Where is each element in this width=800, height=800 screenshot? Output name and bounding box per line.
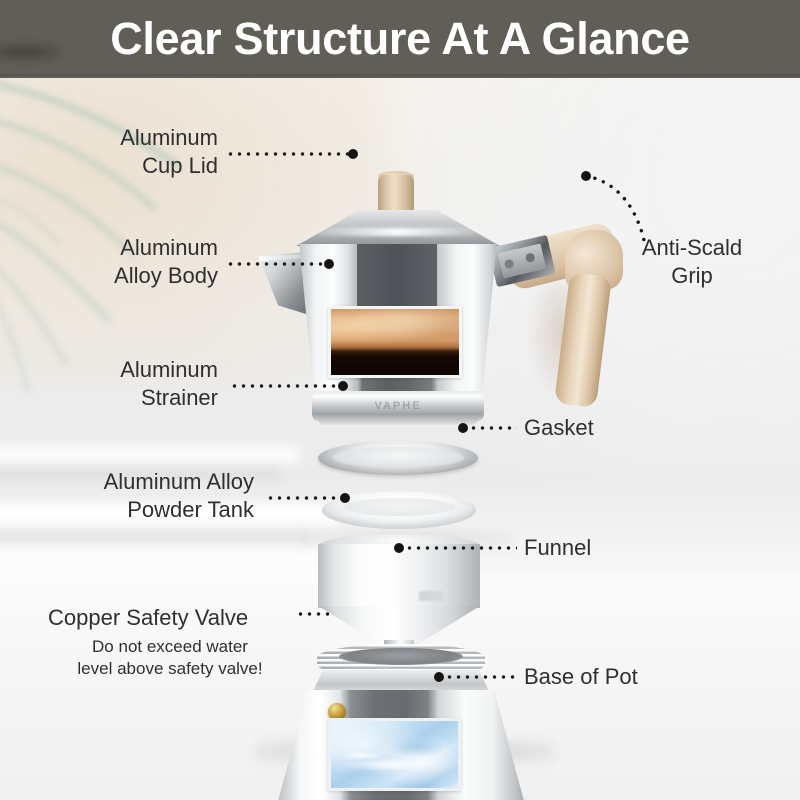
callout-label-aluminum-alloy-body: Aluminum Alloy Body [28, 234, 218, 290]
water-swirl-texture [337, 729, 452, 780]
water-inset-photo [328, 718, 461, 791]
crema-inset-photo [328, 306, 462, 378]
leader-line-aluminum-alloy-powder-tank [266, 496, 342, 500]
header-bar: Clear Structure At A Glance [0, 0, 800, 78]
leader-line-aluminum-alloy-body [226, 262, 326, 266]
collar-base-ring [318, 417, 478, 425]
leader-dot-aluminum-alloy-body [324, 259, 334, 269]
strainer-inner-face [332, 447, 464, 468]
callout-label-funnel: Funnel [524, 534, 744, 562]
leader-dot-aluminum-strainer [338, 381, 348, 391]
callout-label-copper-safety-valve: Copper Safety Valve [48, 604, 292, 632]
callout-label-anti-scald-grip: Anti-Scald Grip [592, 234, 792, 290]
callout-label-aluminum-cup-lid: Aluminum Cup Lid [28, 124, 218, 180]
callout-label-aluminum-strainer: Aluminum Strainer [36, 356, 218, 412]
leader-line-aluminum-strainer [230, 384, 340, 388]
callout-label-base-of-pot: Base of Pot [524, 663, 764, 691]
cup-lid-highlight [318, 228, 478, 236]
leader-line-copper-safety-valve [296, 612, 332, 616]
callout-label-aluminum-alloy-powder-tank: Aluminum Alloy Powder Tank [18, 468, 254, 524]
leader-line-aluminum-cup-lid [226, 152, 350, 156]
gasket-inner-hole [343, 498, 455, 516]
leader-dot-aluminum-cup-lid [348, 149, 358, 159]
aluminum-alloy-powder-tank-part [318, 544, 480, 608]
leader-dot-base-of-pot [434, 672, 444, 682]
infographic-root: VAPHE C [0, 0, 800, 800]
brand-emboss-text: VAPHE [312, 400, 484, 412]
callout-label-gasket: Gasket [524, 414, 744, 442]
page-title: Clear Structure At A Glance [0, 11, 800, 67]
base-neck-opening [339, 648, 463, 665]
leader-dot-anti-scald-grip [581, 171, 591, 181]
leader-line-funnel [405, 546, 517, 550]
leader-line-base-of-pot [445, 675, 517, 679]
callout-sublabel-copper-safety-valve: Do not exceed water level above safety v… [48, 636, 292, 680]
leader-dot-gasket [458, 423, 468, 433]
powder-tank-fill-mark [419, 591, 443, 601]
leader-dot-aluminum-alloy-powder-tank [340, 493, 350, 503]
leader-line-gasket [469, 426, 517, 430]
crema-texture [331, 309, 459, 347]
leader-dot-funnel [394, 543, 404, 553]
body-facet-shadow [357, 244, 437, 312]
